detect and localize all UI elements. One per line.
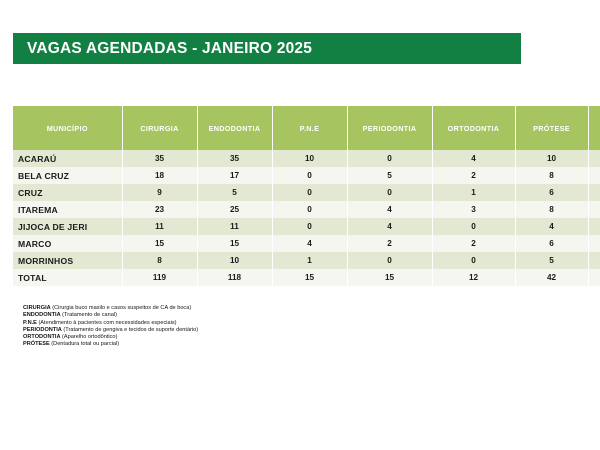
cell-municipio: MORRINHOS <box>13 252 122 269</box>
table-row: MORRINHOS810100524 <box>13 252 600 269</box>
cell-endodontia: 5 <box>197 184 272 201</box>
cell-protese: 6 <box>515 184 588 201</box>
cell-municipio: BELA CRUZ <box>13 167 122 184</box>
cell-endodontia: 35 <box>197 150 272 167</box>
cell-cirurgia: 11 <box>122 218 197 235</box>
cell-pne: 0 <box>272 184 347 201</box>
cell-endodontia: 11 <box>197 218 272 235</box>
cell-total: 94 <box>588 150 600 167</box>
cell-periodontia: 2 <box>347 235 432 252</box>
cell-total: 50 <box>588 167 600 184</box>
legend-description: (Dentadura total ou parcial) <box>50 341 119 347</box>
cell-protese: 4 <box>515 218 588 235</box>
cell-periodontia: 5 <box>347 167 432 184</box>
table-row: JIJOCA DE JERI1111040430 <box>13 218 600 235</box>
cell-protese: 8 <box>515 167 588 184</box>
cell-pne: 10 <box>272 150 347 167</box>
cell-endodontia: 118 <box>197 269 272 286</box>
cell-endodontia: 15 <box>197 235 272 252</box>
cell-municipio: ACARAÚ <box>13 150 122 167</box>
slide-canvas: VAGAS AGENDADAS - JANEIRO 2025 MUNICÍPIO… <box>0 0 600 450</box>
legend-term: ORTODONTIA <box>23 334 61 340</box>
cell-pne: 15 <box>272 269 347 286</box>
title-banner: VAGAS AGENDADAS - JANEIRO 2025 <box>13 33 521 64</box>
legend-line: P.N.E (Atendimento à pacientes com neces… <box>23 320 423 327</box>
table-row: MARCO1515422644 <box>13 235 600 252</box>
legend-term: ENDODONTIA <box>23 312 61 318</box>
cell-pne: 4 <box>272 235 347 252</box>
cell-total: 321 <box>588 269 600 286</box>
cell-periodontia: 0 <box>347 252 432 269</box>
legend-line: PERIODONTIA (Tratamento de gengiva e tec… <box>23 327 423 334</box>
cell-ortodontia: 0 <box>432 218 515 235</box>
legend-block: CIRURGIA (Cirurgia buco maxilo e casos s… <box>23 305 423 349</box>
cell-endodontia: 25 <box>197 201 272 218</box>
legend-term: CIRURGIA <box>23 305 51 311</box>
cell-protese: 42 <box>515 269 588 286</box>
table-row: ITAREMA2325043858 <box>13 201 600 218</box>
cell-protese: 5 <box>515 252 588 269</box>
cell-cirurgia: 119 <box>122 269 197 286</box>
cell-total: 44 <box>588 235 600 252</box>
column-header-total: TOTAL <box>588 106 600 150</box>
cell-cirurgia: 15 <box>122 235 197 252</box>
cell-total: 30 <box>588 218 600 235</box>
cell-pne: 1 <box>272 252 347 269</box>
cell-municipio: CRUZ <box>13 184 122 201</box>
legend-term: PRÓTESE <box>23 341 50 347</box>
cell-municipio: TOTAL <box>13 269 122 286</box>
column-header-periodontia: PERIODONTIA <box>347 106 432 150</box>
column-header-ortodontia: ORTODONTIA <box>432 106 515 150</box>
legend-description: (Tratamento de gengiva e tecidos de supo… <box>62 327 198 333</box>
cell-protese: 8 <box>515 201 588 218</box>
cell-periodontia: 4 <box>347 201 432 218</box>
legend-line: ENDODONTIA (Tratamento de canal) <box>23 312 423 319</box>
cell-periodontia: 15 <box>347 269 432 286</box>
cell-municipio: MARCO <box>13 235 122 252</box>
table-header-row: MUNICÍPIO CIRURGIA ENDODONTIA P.N.E PERI… <box>13 106 600 150</box>
cell-endodontia: 10 <box>197 252 272 269</box>
cell-protese: 6 <box>515 235 588 252</box>
table-row: CRUZ95001621 <box>13 184 600 201</box>
legend-description: (Aparelho ortodôntico) <box>61 334 118 340</box>
cell-ortodontia: 4 <box>432 150 515 167</box>
legend-line: CIRURGIA (Cirurgia buco maxilo e casos s… <box>23 305 423 312</box>
cell-periodontia: 4 <box>347 218 432 235</box>
legend-term: P.N.E <box>23 320 37 326</box>
cell-pne: 0 <box>272 218 347 235</box>
legend-description: (Atendimento à pacientes com necessidade… <box>37 320 177 326</box>
cell-cirurgia: 9 <box>122 184 197 201</box>
cell-protese: 10 <box>515 150 588 167</box>
cell-cirurgia: 8 <box>122 252 197 269</box>
column-header-protese: PRÓTESE <box>515 106 588 150</box>
cell-municipio: JIJOCA DE JERI <box>13 218 122 235</box>
column-header-endodontia: ENDODONTIA <box>197 106 272 150</box>
cell-cirurgia: 23 <box>122 201 197 218</box>
column-header-pne: P.N.E <box>272 106 347 150</box>
legend-term: PERIODONTIA <box>23 327 62 333</box>
cell-cirurgia: 35 <box>122 150 197 167</box>
column-header-cirurgia: CIRURGIA <box>122 106 197 150</box>
cell-municipio: ITAREMA <box>13 201 122 218</box>
legend-description: (Cirurgia buco maxilo e casos suspeitos … <box>51 305 192 311</box>
table-total-row: TOTAL11911815151242321 <box>13 269 600 286</box>
cell-total: 21 <box>588 184 600 201</box>
page-title: VAGAS AGENDADAS - JANEIRO 2025 <box>13 40 312 58</box>
cell-ortodontia: 1 <box>432 184 515 201</box>
cell-pne: 0 <box>272 201 347 218</box>
table-row: ACARAÚ353510041094 <box>13 150 600 167</box>
cell-ortodontia: 2 <box>432 235 515 252</box>
cell-cirurgia: 18 <box>122 167 197 184</box>
cell-ortodontia: 2 <box>432 167 515 184</box>
cell-periodontia: 0 <box>347 184 432 201</box>
cell-ortodontia: 12 <box>432 269 515 286</box>
column-header-municipio: MUNICÍPIO <box>13 106 122 150</box>
legend-line: PRÓTESE (Dentadura total ou parcial) <box>23 341 423 348</box>
table-body: ACARAÚ353510041094BELA CRUZ1817052850CRU… <box>13 150 600 286</box>
cell-total: 58 <box>588 201 600 218</box>
cell-endodontia: 17 <box>197 167 272 184</box>
table-row: BELA CRUZ1817052850 <box>13 167 600 184</box>
cell-ortodontia: 0 <box>432 252 515 269</box>
schedule-table: MUNICÍPIO CIRURGIA ENDODONTIA P.N.E PERI… <box>13 106 600 286</box>
cell-periodontia: 0 <box>347 150 432 167</box>
cell-ortodontia: 3 <box>432 201 515 218</box>
cell-total: 24 <box>588 252 600 269</box>
legend-description: (Tratamento de canal) <box>61 312 117 318</box>
cell-pne: 0 <box>272 167 347 184</box>
schedule-table-container: MUNICÍPIO CIRURGIA ENDODONTIA P.N.E PERI… <box>13 106 587 286</box>
